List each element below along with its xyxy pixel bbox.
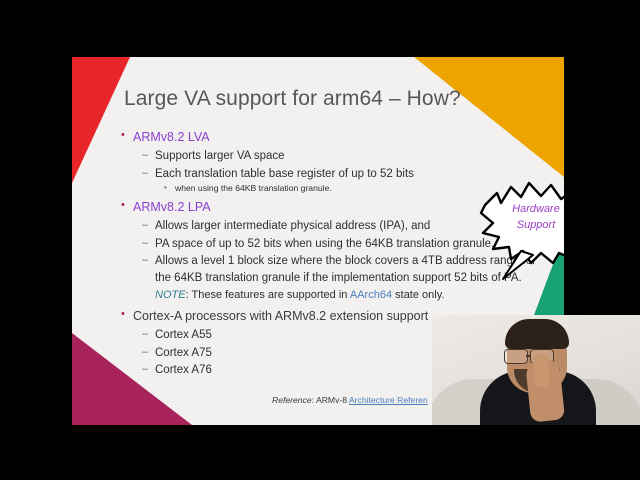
presenter-glasses-left-lens xyxy=(504,349,528,364)
reference-text: ARMv-8 xyxy=(316,395,349,405)
bullet-supports-larger-va-space: Supports larger VA space xyxy=(120,148,550,165)
presenter-glasses-bridge xyxy=(526,355,531,357)
presenter-webcam-overlay[interactable] xyxy=(432,315,640,425)
reference-link[interactable]: Architecture Referen xyxy=(349,395,428,405)
note-text-after: state only. xyxy=(392,289,444,301)
hardware-support-callout: Hardware Support xyxy=(477,179,564,283)
slide-title: Large VA support for arm64 – How? xyxy=(124,87,461,111)
note-keyword: NOTE xyxy=(155,289,186,301)
reference-keyword: Reference xyxy=(272,395,312,405)
presenter-finger xyxy=(533,353,550,388)
note-line: NOTE: These features are supported in AA… xyxy=(120,287,550,303)
reference-line: Reference: ARMv-8 Architecture Referen xyxy=(272,395,428,405)
starburst-callout-icon xyxy=(477,179,564,283)
video-player-viewport: Large VA support for arm64 – How? ARMv8.… xyxy=(0,0,640,480)
presenter-hair xyxy=(505,319,569,349)
bullet-armv82-lva: ARMv8.2 LVA xyxy=(120,129,550,146)
note-link-aarch64[interactable]: AArch64 xyxy=(350,289,392,301)
note-text-before: These features are supported in xyxy=(191,289,349,301)
